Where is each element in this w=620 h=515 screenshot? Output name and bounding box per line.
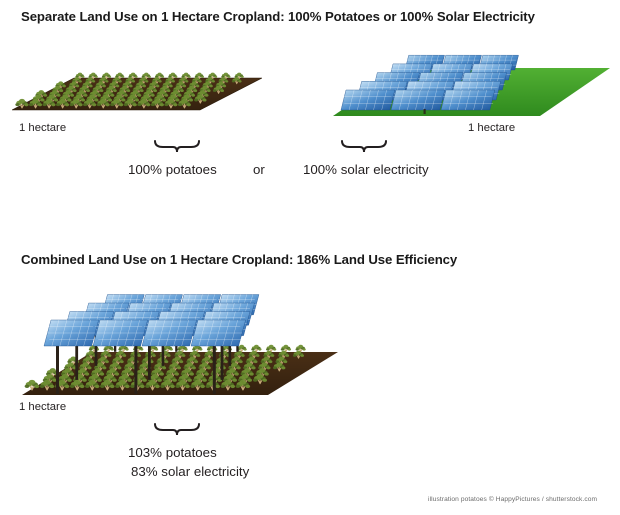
illustration-credit: illustration potatoes © HappyPictures / … [428,496,597,503]
section-title-separate: Separate Land Use on 1 Hectare Cropland:… [21,9,535,24]
potato-field-svg [12,52,262,122]
caption-conjunction-or: or [253,162,265,177]
section-title-combined: Combined Land Use on 1 Hectare Cropland:… [21,252,457,267]
caption-potatoes-separate: 100% potatoes [128,162,217,177]
brace-combined [154,423,200,437]
solar-field-svg [325,48,610,124]
hectare-label-solar: 1 hectare [468,122,515,134]
solar-field-illustration [325,48,610,124]
agrivoltaic-svg [18,290,338,405]
brace-potatoes [154,140,200,154]
agrivoltaic-field-illustration [18,290,338,405]
caption-solar-separate: 100% solar electricity [303,162,429,177]
hectare-label-combined: 1 hectare [19,401,66,413]
brace-solar [341,140,387,154]
brace-icon [341,140,387,154]
brace-icon [154,140,200,154]
elevated-solar-panel-rows [44,295,259,346]
potato-field-illustration [12,52,262,122]
brace-icon [154,423,200,437]
caption-solar-combined: 83% solar electricity [131,464,249,479]
caption-potatoes-combined: 103% potatoes [128,445,217,460]
hectare-label-potato: 1 hectare [19,122,66,134]
